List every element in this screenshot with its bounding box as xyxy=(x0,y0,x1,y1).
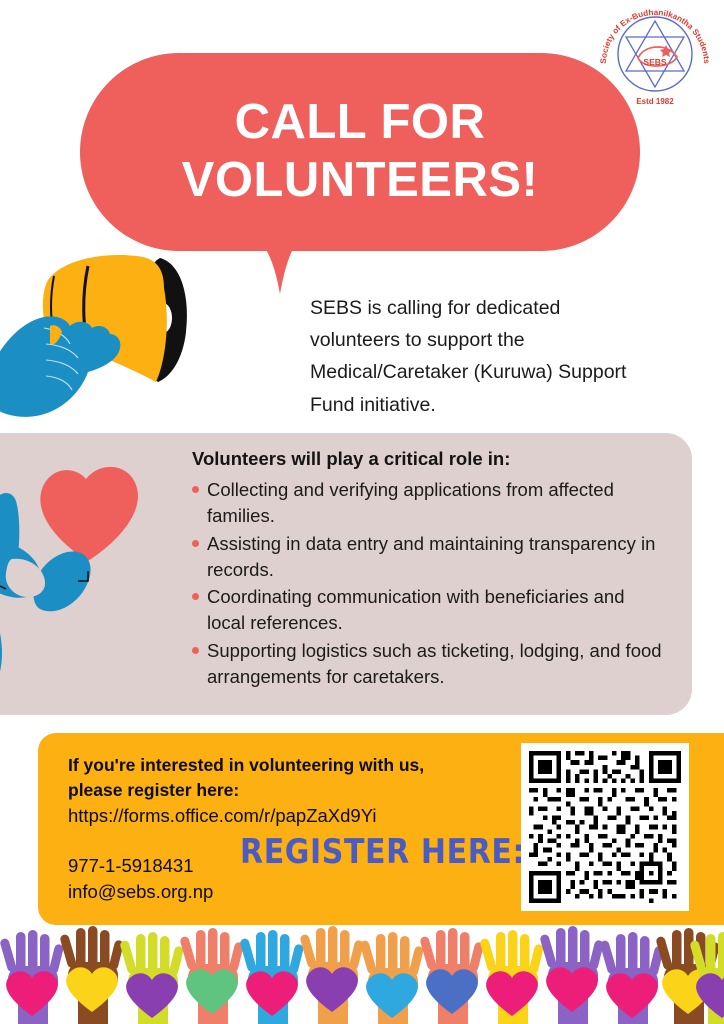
registration-url[interactable]: https://forms.office.com/r/papZaXd9Yi xyxy=(68,805,376,827)
logo-center-text: SEBS xyxy=(643,57,666,67)
bullet-icon xyxy=(192,486,199,493)
footer-hand-group xyxy=(0,926,724,1024)
bullet-icon xyxy=(192,647,199,654)
sebs-logo-icon: SEBS Society of Ex-Budhanilkantha Studen… xyxy=(594,2,716,110)
list-item: Collecting and verifying applications fr… xyxy=(192,477,662,530)
contact-email[interactable]: info@sebs.org.np xyxy=(68,881,213,903)
roles-content: Volunteers will play a critical role in:… xyxy=(192,448,662,691)
sebs-logo: SEBS Society of Ex-Budhanilkantha Studen… xyxy=(594,2,716,110)
logo-circular-text: Society of Ex-Budhanilkantha Students xyxy=(599,8,711,64)
hand-holding-heart-icon xyxy=(0,443,162,718)
list-item: Assisting in data entry and maintaining … xyxy=(192,531,662,584)
headline-line-1: CALL FOR xyxy=(235,94,486,152)
list-item-label: Assisting in data entry and maintaining … xyxy=(207,533,655,580)
contact-box: If you're interested in volunteering wit… xyxy=(38,733,724,925)
list-item: Coordinating communication with benefici… xyxy=(192,584,662,637)
headline-line-2: VOLUNTEERS! xyxy=(182,152,539,210)
bullet-icon xyxy=(192,540,199,547)
list-item-label: Supporting logistics such as ticketing, … xyxy=(207,640,662,687)
logo-established-text: Estd 1982 xyxy=(636,97,674,106)
intro-paragraph: SEBS is calling for dedicated volunteers… xyxy=(310,292,650,421)
poster-root: SEBS Society of Ex-Budhanilkantha Studen… xyxy=(0,0,724,1024)
contact-lead-line-2: please register here: xyxy=(68,778,488,803)
contact-lead: If you're interested in volunteering wit… xyxy=(68,753,488,804)
roles-title: Volunteers will play a critical role in: xyxy=(192,448,662,470)
raised-hands-with-hearts-icon xyxy=(0,924,724,1024)
list-item: Supporting logistics such as ticketing, … xyxy=(192,638,662,691)
headline-text-block: CALL FOR VOLUNTEERS! xyxy=(80,53,640,251)
bullet-icon xyxy=(192,593,199,600)
megaphone-in-hand-icon xyxy=(0,248,232,428)
qr-code-container[interactable] xyxy=(521,743,689,911)
qr-code-icon[interactable] xyxy=(529,751,681,903)
contact-phone[interactable]: 977-1-5918431 xyxy=(68,855,194,877)
contact-lead-line-1: If you're interested in volunteering wit… xyxy=(68,753,488,778)
list-item-label: Collecting and verifying applications fr… xyxy=(207,479,614,526)
roles-list: Collecting and verifying applications fr… xyxy=(192,477,662,690)
headline-speech-bubble: CALL FOR VOLUNTEERS! xyxy=(80,53,640,251)
register-here-label: REGISTER HERE: xyxy=(240,833,525,872)
list-item-label: Coordinating communication with benefici… xyxy=(207,586,625,633)
